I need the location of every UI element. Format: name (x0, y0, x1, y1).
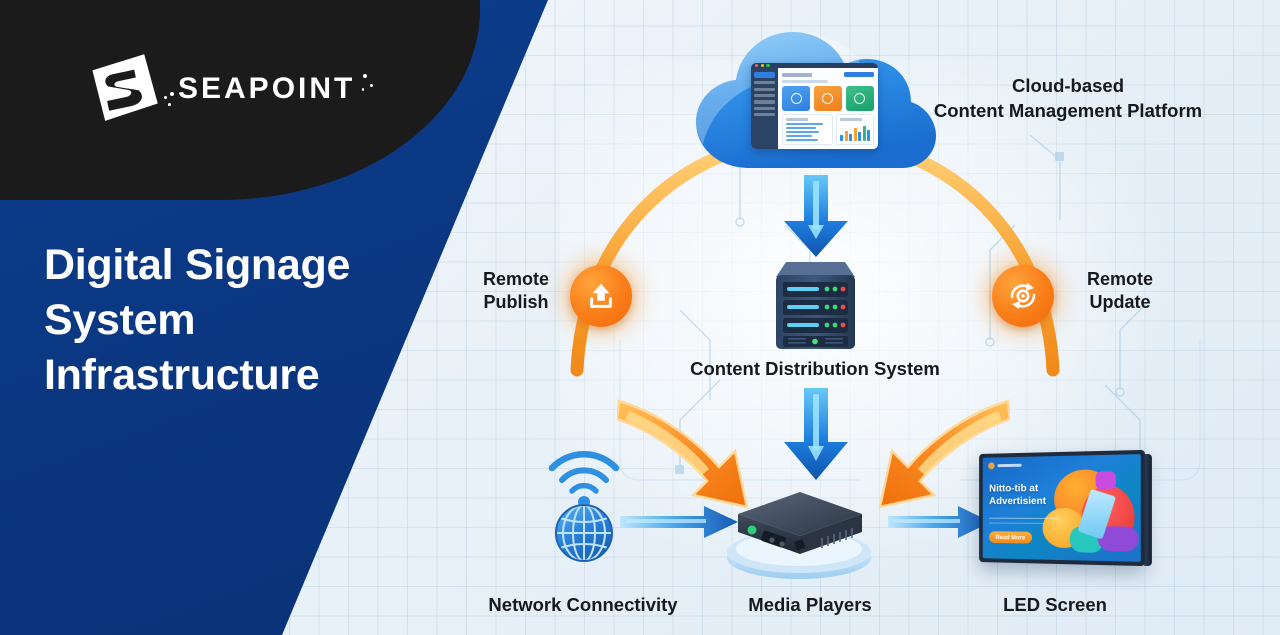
sidebar-item[interactable] (754, 107, 775, 110)
globe-icon (556, 505, 612, 561)
seapoint-diamond-s-logo-icon (88, 52, 162, 126)
dashboard-subheading (782, 80, 828, 83)
arrow-cloud-to-server-icon (775, 175, 857, 257)
server-label: Content Distribution System (660, 358, 970, 380)
led-ad-logo-bar (997, 464, 1021, 467)
brand-name: SEAPOINT (178, 72, 355, 106)
server-rack-icon (763, 247, 868, 355)
dashboard-heading (782, 73, 812, 77)
cloud-upload-card-icon (791, 93, 802, 104)
dashboard-sidebar[interactable] (751, 68, 778, 149)
media-player-node[interactable] (712, 478, 887, 582)
remote-update-label: Remote Update (1056, 268, 1184, 314)
led-screen-node[interactable]: Nitto-tib at Advertisient Read More (968, 444, 1153, 574)
media-players-label: Media Players (690, 594, 930, 616)
dashboard-chart-panel[interactable] (836, 114, 874, 145)
cloud-label-line-2: Content Management Platform (898, 99, 1238, 124)
network-connectivity-label: Network Connectivity (443, 594, 723, 616)
sync-gear-icon (1007, 280, 1039, 312)
led-screen-side-edge (1144, 454, 1152, 566)
page-title: Digital Signage System Infrastructure (44, 238, 464, 403)
led-ad-rule (989, 518, 1059, 519)
led-ad-logo (988, 462, 1021, 469)
dashboard-card-row (782, 86, 874, 111)
led-ad-headline: Nitto-tib at Advertisient (989, 482, 1071, 508)
led-ad-cta-button[interactable]: Read More (989, 531, 1032, 543)
cloud-upload-card[interactable] (782, 86, 810, 111)
led-ad-rule-secondary (989, 523, 1043, 524)
led-screen-label: LED Screen (935, 594, 1175, 616)
brand-wordmark: SEAPOINT (178, 72, 355, 106)
sidebar-item[interactable] (754, 100, 775, 103)
network-connectivity-node[interactable] (540, 440, 628, 565)
display-card-icon (854, 93, 865, 104)
window-maximize-dot (766, 64, 769, 67)
cloud-label-line-1: Cloud-based (898, 74, 1238, 99)
dashboard-body (751, 68, 878, 149)
title-line-2: System (44, 293, 464, 348)
led-screen-content: Nitto-tib at Advertisient Read More (983, 454, 1141, 562)
sidebar-item[interactable] (754, 81, 775, 84)
infographic-canvas: SEAPOINT Digital Signage System Infrastr… (0, 0, 1280, 635)
list-panel-heading (786, 118, 808, 121)
led-ad-logo-dot (988, 462, 994, 469)
remote-publish-label-line-1: Remote (452, 268, 580, 291)
led-ad-headline-line-1: Nitto-tib at (989, 482, 1071, 495)
arrow-server-to-player-icon (775, 388, 857, 480)
dashboard-panel-row (782, 114, 874, 145)
brand-logo[interactable]: SEAPOINT (88, 52, 355, 126)
schedule-card-icon (822, 93, 833, 104)
content-distribution-server[interactable] (763, 247, 868, 355)
remote-publish-label: Remote Publish (452, 268, 580, 314)
schedule-card[interactable] (814, 86, 842, 111)
wifi-icon (552, 454, 616, 508)
dashboard-main (778, 68, 878, 149)
title-line-3: Infrastructure (44, 348, 464, 403)
remote-update-label-line-1: Remote (1056, 268, 1184, 291)
led-ad-headline-line-2: Advertisient (989, 495, 1071, 508)
sidebar-item[interactable] (754, 88, 775, 91)
remote-update-badge[interactable] (992, 265, 1054, 327)
dashboard-list-panel[interactable] (782, 114, 833, 145)
title-line-1: Digital Signage (44, 238, 464, 293)
remote-update-label-line-2: Update (1056, 291, 1184, 314)
window-minimize-dot (761, 64, 764, 67)
display-card[interactable] (846, 86, 874, 111)
media-player-box-icon (712, 478, 887, 582)
cms-dashboard-preview[interactable] (751, 63, 878, 149)
window-close-dot (755, 64, 758, 67)
dashboard-bar-chart (840, 123, 870, 141)
sidebar-item[interactable] (754, 113, 775, 116)
dashboard-toolbar (782, 72, 874, 77)
led-display-icon: Nitto-tib at Advertisient Read More (979, 450, 1145, 566)
cloud-label: Cloud-based Content Management Platform (898, 74, 1238, 124)
sidebar-item[interactable] (754, 94, 775, 97)
upload-icon (586, 281, 616, 311)
sidebar-brand (754, 72, 775, 78)
dashboard-primary-button[interactable] (844, 72, 874, 77)
remote-publish-label-line-2: Publish (452, 291, 580, 314)
chart-panel-heading (840, 118, 862, 121)
